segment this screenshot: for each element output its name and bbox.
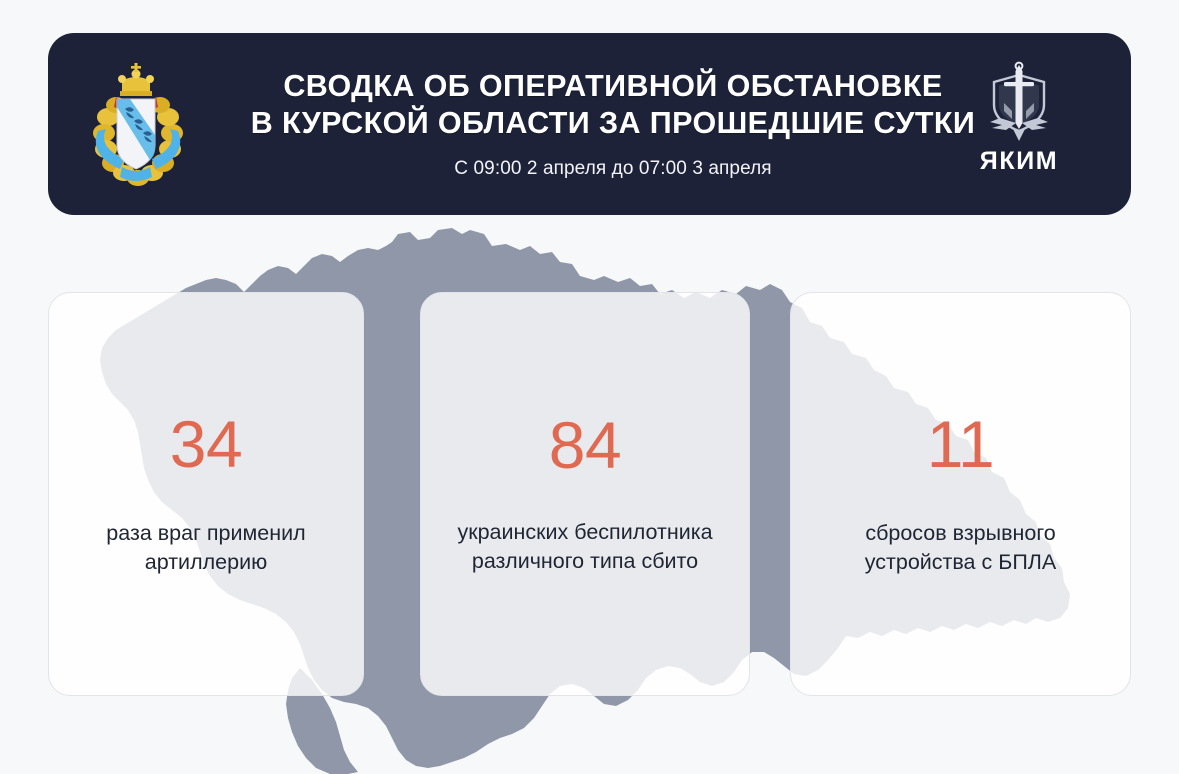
brand-logo: ЯКИМ bbox=[955, 61, 1083, 189]
stat-value: 11 bbox=[927, 411, 995, 477]
infographic-page: СВОДКА ОБ ОПЕРАТИВНОЙ ОБСТАНОВКЕ В КУРСК… bbox=[0, 0, 1179, 774]
stat-value: 84 bbox=[549, 412, 621, 478]
kursk-oblast-coat-of-arms-icon bbox=[86, 59, 186, 189]
stat-label: сбросов взрывного устройства с БПЛА bbox=[855, 519, 1066, 577]
stat-value: 34 bbox=[170, 411, 242, 477]
stat-card-artillery: 34 раза враг применил артиллерию bbox=[48, 292, 364, 696]
stat-card-drones-downed: 84 украинских беспилотника различного ти… bbox=[420, 292, 750, 696]
page-title: СВОДКА ОБ ОПЕРАТИВНОЙ ОБСТАНОВКЕ В КУРСК… bbox=[251, 68, 976, 142]
stat-label: раза враг применил артиллерию bbox=[96, 519, 315, 577]
shield-sword-icon bbox=[982, 61, 1056, 145]
brand-name: ЯКИМ bbox=[980, 149, 1058, 174]
header-banner: СВОДКА ОБ ОПЕРАТИВНОЙ ОБСТАНОВКЕ В КУРСК… bbox=[48, 33, 1131, 215]
report-period: С 09:00 2 апреля до 07:00 3 апреля bbox=[454, 158, 771, 180]
stat-card-explosive-drops: 11 сбросов взрывного устройства с БПЛА bbox=[790, 292, 1131, 696]
stat-label: украинских беспилотника различного типа … bbox=[447, 518, 722, 576]
header-text-block: СВОДКА ОБ ОПЕРАТИВНОЙ ОБСТАНОВКЕ В КУРСК… bbox=[228, 33, 998, 215]
